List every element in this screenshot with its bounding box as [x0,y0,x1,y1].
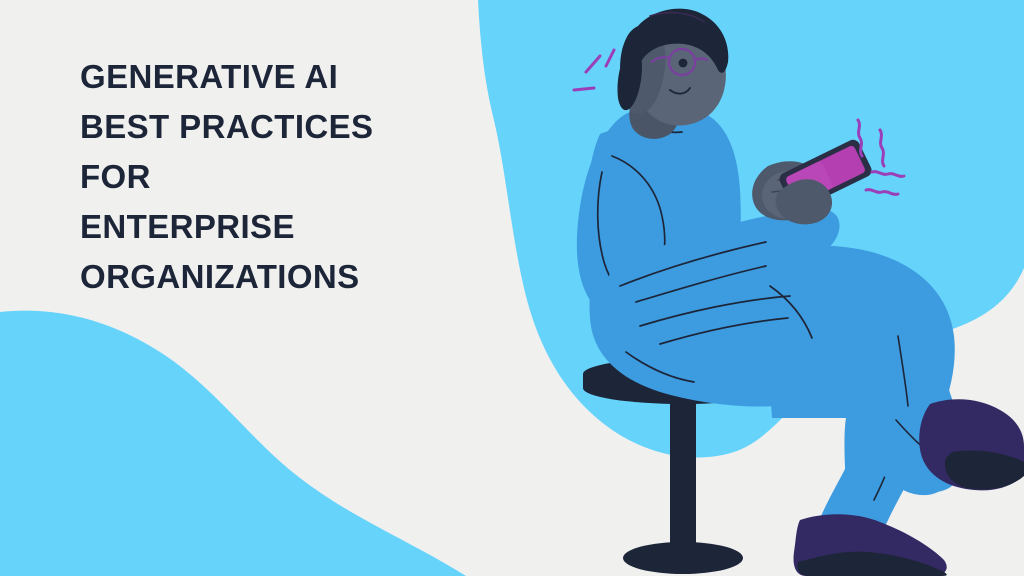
eye [679,59,688,68]
title-line-2: BEST PRACTICES [80,102,410,152]
title-line-1: GENERATIVE AI [80,52,410,102]
title-line-3: FOR [80,152,410,202]
stool-post [670,386,696,554]
title-line-5: ORGANIZATIONS [80,252,410,302]
stool-base [623,542,743,574]
title-line-4: ENTERPRISE [80,202,410,252]
page-title: GENERATIVE AI BEST PRACTICES FOR ENTERPR… [80,52,410,302]
shoe-back [794,514,947,576]
sparkle-lines-head [574,50,614,90]
presentation-slide: GENERATIVE AI BEST PRACTICES FOR ENTERPR… [0,0,1024,576]
